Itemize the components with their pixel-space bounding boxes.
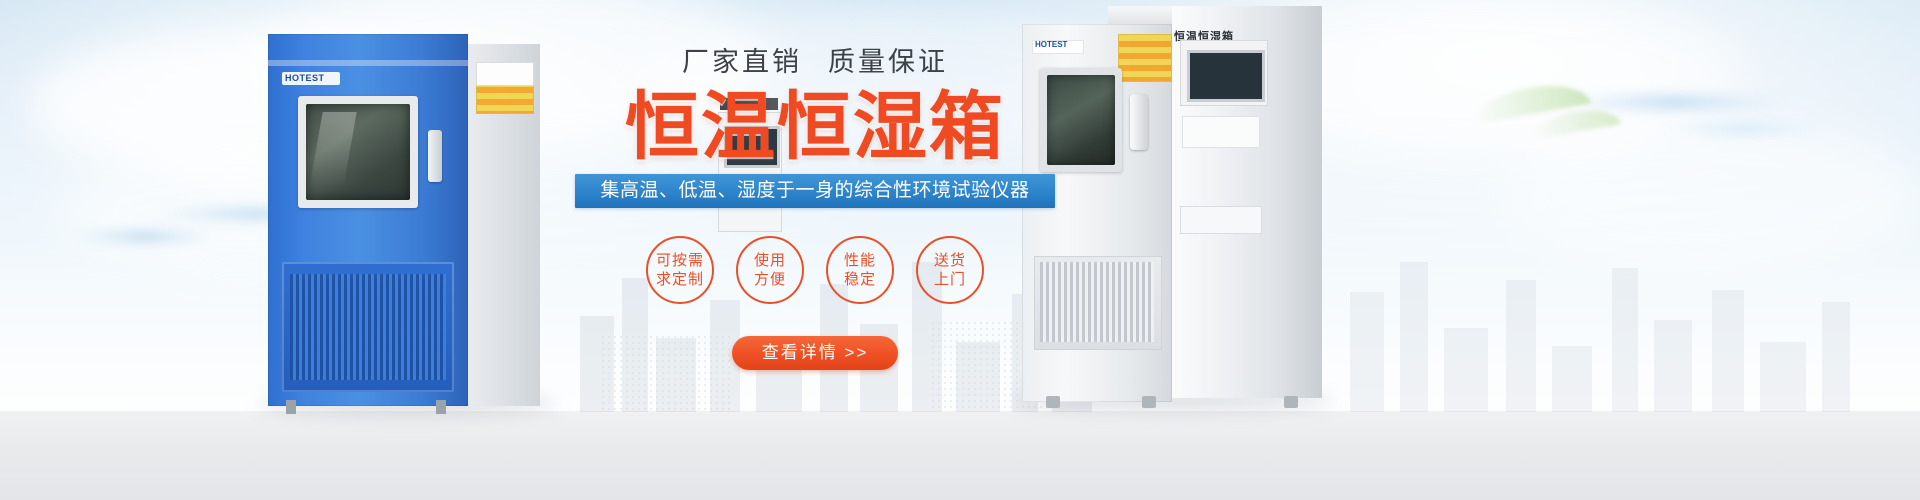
badge-line-1: 使用 [754, 251, 786, 270]
wind-streak [1560, 96, 1790, 109]
spec-plate-right [1180, 206, 1262, 234]
badge-line-2: 上门 [934, 270, 966, 289]
chamber-right-foot [1142, 396, 1156, 408]
chamber-right-vent-grille [1040, 262, 1154, 342]
headline: 恒温恒湿箱 [575, 86, 1055, 168]
subtitle-bar: 集高温、低温、湿度于一身的综合性环境试验仪器 [575, 174, 1055, 208]
skyline-silhouette [1320, 242, 1920, 412]
chamber-right-window-glass [1047, 75, 1115, 165]
chamber-left-top-edge [268, 60, 468, 66]
wind-streak [70, 232, 220, 241]
badge-line-1: 可按需 [656, 251, 704, 270]
chamber-left-window-glass [306, 104, 410, 200]
badge-line-2: 方便 [754, 270, 786, 289]
feature-badge-custom[interactable]: 可按需 求定制 [646, 236, 714, 304]
chamber-left-door-handle [428, 130, 442, 182]
control-screen-right [1187, 50, 1265, 102]
brand-text-left: HOTEST [285, 73, 325, 83]
badge-line-1: 性能 [844, 251, 876, 270]
promo-copy-block: 厂家直销 质量保证 恒温恒湿箱 集高温、低温、湿度于一身的综合性环境试验仪器 可… [575, 44, 1055, 444]
feature-badge-stable[interactable]: 性能 稳定 [826, 236, 894, 304]
tagline: 厂家直销 质量保证 [575, 44, 1055, 80]
chamber-left-foot [436, 400, 446, 414]
chamber-right-door-handle [1130, 94, 1148, 150]
feature-badge-list: 可按需 求定制 使用 方便 性能 稳定 送货 上门 [575, 236, 1055, 304]
feature-badge-delivery[interactable]: 送货 上门 [916, 236, 984, 304]
info-plate-right [1182, 116, 1260, 148]
tagline-part-2: 质量保证 [828, 44, 948, 80]
chamber-right-foot [1284, 396, 1298, 408]
chamber-left-vent-grille [290, 274, 446, 380]
cta-row: 查看详情 >> [575, 336, 1055, 370]
glass-reflection [309, 112, 356, 188]
chamber-left-window-frame [298, 96, 418, 208]
chamber-left-foot [286, 400, 296, 414]
badge-line-1: 送货 [934, 251, 966, 270]
upper-plate-left [476, 62, 534, 86]
warning-label-right [1118, 34, 1172, 82]
feature-badge-easy-use[interactable]: 使用 方便 [736, 236, 804, 304]
view-details-button[interactable]: 查看详情 >> [732, 336, 899, 370]
badge-line-2: 求定制 [656, 270, 704, 289]
promo-banner: HOTEST HOTEST 恒温恒湿箱 [0, 0, 1920, 500]
wind-streak [1660, 124, 1830, 134]
badge-line-2: 稳定 [844, 270, 876, 289]
product-image-left: HOTEST [268, 34, 540, 406]
tagline-part-1: 厂家直销 [682, 44, 802, 80]
product-image-right: HOTEST 恒温恒湿箱 [1022, 6, 1322, 402]
